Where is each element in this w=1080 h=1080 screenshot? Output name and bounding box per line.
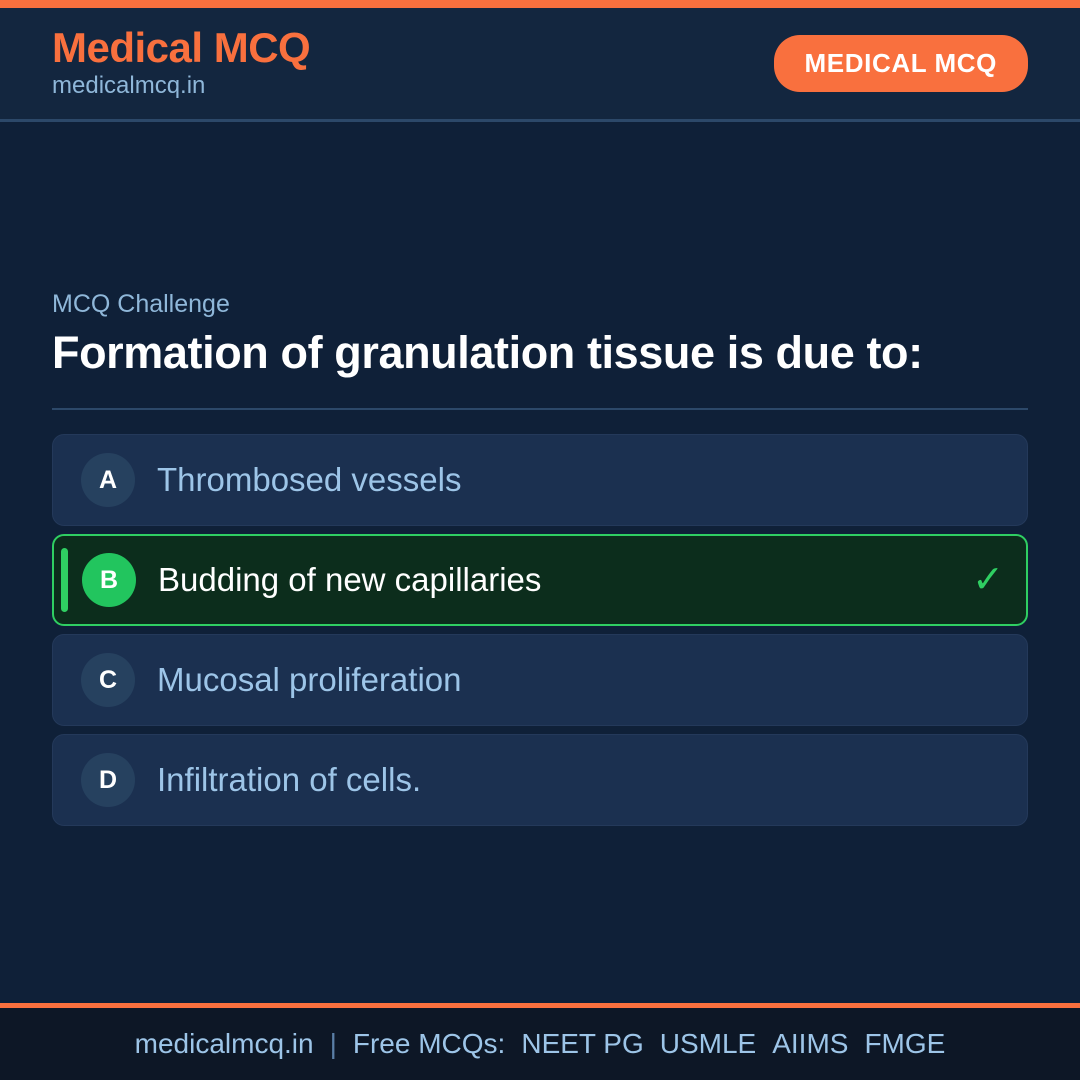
mcq-card: Medical MCQ medicalmcq.in MEDICAL MCQ MC… xyxy=(0,0,1080,1080)
footer-exam-list: NEET PG USMLE AIIMS FMGE xyxy=(521,1028,945,1060)
page-header: Medical MCQ medicalmcq.in MEDICAL MCQ xyxy=(0,8,1080,122)
question-block: MCQ Challenge Formation of granulation t… xyxy=(52,289,1028,826)
options-list: A Thrombosed vessels ✓ B Budding of new … xyxy=(52,434,1028,826)
option-label: Mucosal proliferation xyxy=(157,660,959,700)
option-c[interactable]: C Mucosal proliferation ✓ xyxy=(52,634,1028,726)
footer-separator: | xyxy=(330,1028,337,1060)
option-a[interactable]: A Thrombosed vessels ✓ xyxy=(52,434,1028,526)
eyebrow-label: MCQ Challenge xyxy=(52,289,1028,319)
main-content: MCQ Challenge Formation of granulation t… xyxy=(0,122,1080,1003)
footer-label: Free MCQs: xyxy=(353,1028,505,1060)
question-text: Formation of granulation tissue is due t… xyxy=(52,327,1028,378)
option-letter-badge: B xyxy=(82,553,136,607)
footer-exam-usmle: USMLE xyxy=(660,1028,756,1060)
footer-exam-neetpg: NEET PG xyxy=(521,1028,643,1060)
check-icon: ✓ xyxy=(972,561,1004,599)
page-footer: medicalmcq.in | Free MCQs: NEET PG USMLE… xyxy=(0,1008,1080,1080)
option-letter-badge: C xyxy=(81,653,135,707)
option-letter-badge: D xyxy=(81,753,135,807)
option-label: Budding of new capillaries xyxy=(158,560,958,600)
brand-title: Medical MCQ xyxy=(52,26,310,70)
question-divider xyxy=(52,408,1028,410)
footer-site: medicalmcq.in xyxy=(135,1028,314,1060)
option-letter-badge: A xyxy=(81,453,135,507)
footer-exam-aiims: AIIMS xyxy=(772,1028,848,1060)
brand-url: medicalmcq.in xyxy=(52,72,310,101)
header-badge: MEDICAL MCQ xyxy=(774,35,1028,92)
top-accent-bar xyxy=(0,0,1080,8)
option-d[interactable]: D Infiltration of cells. ✓ xyxy=(52,734,1028,826)
footer-exam-fmge: FMGE xyxy=(864,1028,945,1060)
option-b[interactable]: B Budding of new capillaries ✓ xyxy=(52,534,1028,626)
option-label: Infiltration of cells. xyxy=(157,760,959,800)
brand: Medical MCQ medicalmcq.in xyxy=(52,26,310,101)
correct-accent-bar xyxy=(61,548,68,612)
option-label: Thrombosed vessels xyxy=(157,460,959,500)
